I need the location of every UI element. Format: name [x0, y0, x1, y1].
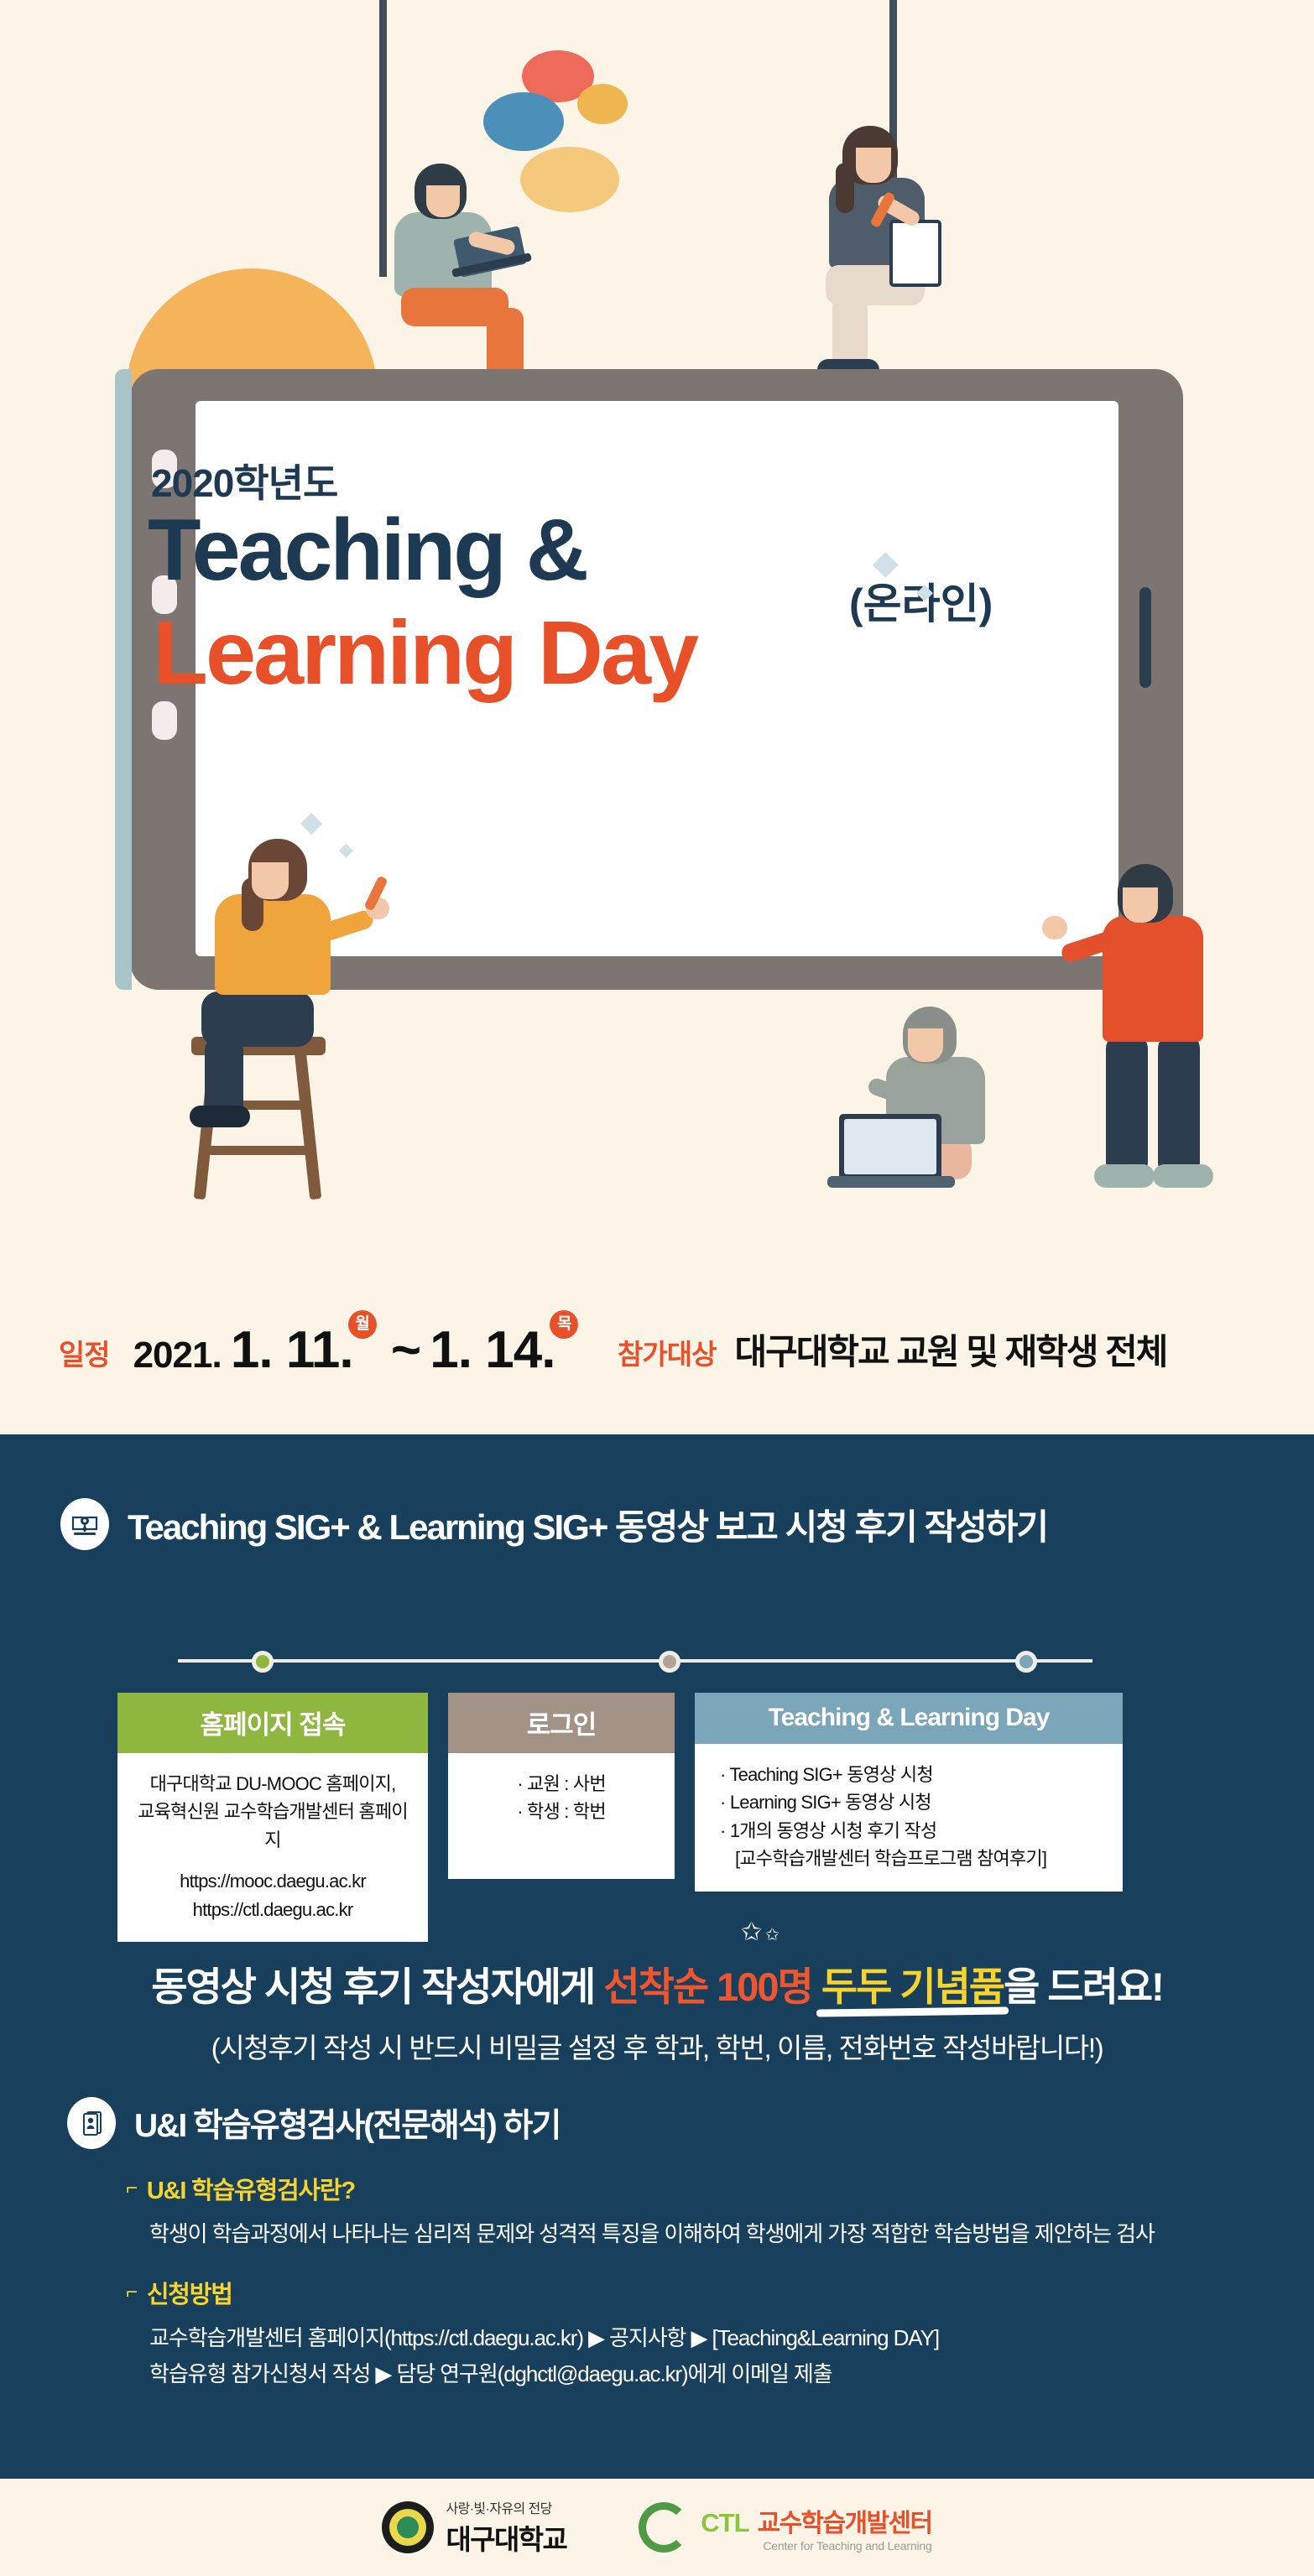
- ui-block-2-heading: 신청방법: [147, 2275, 232, 2310]
- arrow-bullet-icon: ⌐: [126, 2281, 137, 2304]
- daegu-university-logo: 사랑·빛·자유의 전당 대구대학교: [382, 2497, 566, 2558]
- document-card-icon: [67, 2097, 116, 2149]
- ctl-logo: CTL 교수학습개발센터 Center for Teaching and Lea…: [639, 2502, 931, 2553]
- schedule-end-date: 1. 14.: [430, 1321, 555, 1379]
- ctl-url[interactable]: https://ctl.daegu.ac.kr: [133, 1896, 413, 1923]
- target-audience-group: 참가대상 대구대학교 교원 및 재학생 전체: [618, 1324, 1166, 1375]
- step-card-3-title: Teaching & Learning Day: [695, 1693, 1123, 1744]
- poster: 2020학년도 Teaching & (온라인) Learning Day ◆ …: [0, 0, 1314, 2576]
- section-2-title: U&I 학습유형검사(전문해석) 하기: [134, 2100, 560, 2147]
- speech-bubble-blue: [483, 92, 564, 151]
- step-card-3-sub-line: [교수학습개발센터 학습프로그램 참여후기]: [720, 1845, 1108, 1872]
- step-cards: 홈페이지 접속 대구대학교 DU-MOOC 홈페이지, 교육혁신원 교수학습개발…: [117, 1693, 1123, 1942]
- target-audience-label: 참가대상: [618, 1332, 716, 1372]
- step-card-2-title: 로그인: [448, 1693, 675, 1753]
- ui-block-what-is: ⌐ U&I 학습유형검사란? 학생이 학습과정에서 나타나는 심리적 문제와 성…: [126, 2171, 1155, 2252]
- ui-block-1-heading: U&I 학습유형검사란?: [147, 2171, 355, 2206]
- prize-text-mid: [812, 1965, 821, 2009]
- ui-block-1-line-1: 학생이 학습과정에서 나타나는 심리적 문제와 성격적 특징을 이해하여 학생에…: [126, 2216, 1155, 2252]
- prize-line: ✩✩ 동영상 시청 후기 작성자에게 선착순 100명 두두 기념품을 드려요!: [0, 1954, 1314, 2012]
- sparkle-icon: ◆: [873, 544, 899, 582]
- ui-block-2-line-2[interactable]: 학습유형 참가신청서 작성 ▶ 담당 연구원(dghctl@daegu.ac.k…: [126, 2356, 939, 2392]
- hero-illustration: 2020학년도 Teaching & (온라인) Learning Day ◆ …: [0, 0, 1314, 1451]
- hero-title-line2: Learning Day: [153, 604, 696, 702]
- ui-block-2-heading-row: ⌐ 신청방법: [126, 2275, 939, 2310]
- step-card-3-line-1: · Teaching SIG+ 동영상 시청: [720, 1761, 1108, 1788]
- sparkle-icon: ◆: [300, 805, 322, 839]
- step-card-1-urls: https://mooc.daegu.ac.kr https://ctl.dae…: [133, 1867, 413, 1923]
- target-audience-text: 대구대학교 교원 및 재학생 전체: [734, 1324, 1166, 1375]
- step-card-login: 로그인 · 교원 : 사번 · 학생 : 학번: [448, 1693, 675, 1879]
- university-slogan: 사랑·빛·자유의 전당: [446, 2497, 566, 2517]
- device-edge: [115, 369, 132, 990]
- step-card-1-line-2: 교육혁신원 교수학습개발센터 홈페이지: [133, 1798, 413, 1854]
- star-doodle-icon: ✩✩: [741, 1918, 783, 1947]
- person-sitting-with-laptop: [839, 1007, 1074, 1225]
- person-with-laptop: [362, 155, 597, 382]
- prize-text-part1: 동영상 시청 후기 작성자에게: [151, 1965, 603, 2009]
- daegu-university-mark-icon: [382, 2501, 434, 2553]
- step-connector-line: [178, 1659, 1092, 1663]
- schedule-bar: 일정 2021. 1. 11.월 ~ 1. 14.목 참가대상 대구대학교 교원…: [0, 1292, 1314, 1434]
- schedule-label: 일정: [59, 1332, 110, 1380]
- schedule-range-separator: ~: [391, 1321, 420, 1379]
- section-2-header: U&I 학습유형검사(전문해석) 하기: [67, 2097, 560, 2149]
- section-1-header: Teaching SIG+ & Learning SIG+ 동영상 보고 시청 …: [60, 1498, 1047, 1550]
- schedule-start-day-badge: 월: [348, 1310, 377, 1339]
- mooc-url[interactable]: https://mooc.daegu.ac.kr: [133, 1867, 413, 1895]
- prize-highlight-gift: 두두 기념품: [821, 1954, 1004, 2012]
- hero-title-line1: Teaching &: [148, 503, 587, 597]
- step-card-1-line-1: 대구대학교 DU-MOOC 홈페이지,: [133, 1770, 413, 1798]
- schedule-year: 2021.: [133, 1335, 222, 1376]
- university-name: 대구대학교: [446, 2517, 566, 2558]
- ui-block-2-line-1[interactable]: 교수학습개발센터 홈페이지(https://ctl.daegu.ac.kr) ▶…: [126, 2320, 939, 2356]
- step-dot-1: [252, 1651, 274, 1673]
- schedule-date: 2021. 1. 11.월 ~ 1. 14.목: [133, 1320, 584, 1380]
- ctl-abbreviation: CTL: [701, 2508, 748, 2538]
- schedule-start-date: 1. 11.: [231, 1321, 353, 1379]
- person-with-clipboard: [795, 126, 1022, 377]
- ctl-name-korean: 교수학습개발센터: [758, 2502, 932, 2539]
- ctl-name-english: Center for Teaching and Learning: [701, 2539, 931, 2553]
- step-card-3-body: · Teaching SIG+ 동영상 시청 · Learning SIG+ 동…: [695, 1744, 1123, 1892]
- speech-bubble-amber: [577, 84, 628, 124]
- daegu-university-text: 사랑·빛·자유의 전당 대구대학교: [446, 2497, 566, 2558]
- sparkle-icon: ◆: [916, 579, 933, 605]
- footer-logos: 사랑·빛·자유의 전당 대구대학교 CTL 교수학습개발센터 Center fo…: [0, 2479, 1314, 2576]
- step-card-3-line-2: · Learning SIG+ 동영상 시청: [720, 1788, 1108, 1816]
- step-dot-2: [659, 1651, 680, 1673]
- section-1-title: Teaching SIG+ & Learning SIG+ 동영상 보고 시청 …: [128, 1499, 1047, 1550]
- step-card-1-title: 홈페이지 접속: [117, 1693, 428, 1753]
- step-card-2-line-2: · 학생 : 학번: [463, 1798, 660, 1825]
- schedule-end-day-badge: 목: [550, 1310, 578, 1339]
- navy-content-section: Teaching SIG+ & Learning SIG+ 동영상 보고 시청 …: [0, 1434, 1314, 2479]
- hero-year: 2020학년도: [151, 453, 337, 508]
- ctl-circle-icon: [639, 2502, 689, 2553]
- step-card-3-line-3: · 1개의 동영상 시청 후기 작성: [720, 1817, 1108, 1845]
- prize-highlight-count: 선착순 100명: [603, 1965, 811, 2009]
- person-on-stool-writing: [168, 839, 453, 1200]
- device-side-bar: [1139, 587, 1151, 688]
- ui-block-how-to-apply: ⌐ 신청방법 교수학습개발센터 홈페이지(https://ctl.daegu.a…: [126, 2275, 939, 2392]
- prize-note: (시청후기 작성 시 반드시 비밀글 설정 후 학과, 학번, 이름, 전화번호…: [0, 2026, 1314, 2066]
- ui-block-1-heading-row: ⌐ U&I 학습유형검사란?: [126, 2171, 1155, 2206]
- device-button-3: [152, 701, 177, 740]
- ctl-name-row: CTL 교수학습개발센터: [701, 2502, 931, 2539]
- step-card-2-line-1: · 교원 : 사번: [463, 1770, 660, 1798]
- step-card-tlday: Teaching & Learning Day · Teaching SIG+ …: [695, 1693, 1123, 1892]
- ctl-text: CTL 교수학습개발센터 Center for Teaching and Lea…: [701, 2502, 931, 2553]
- prize-announcement: ✩✩ 동영상 시청 후기 작성자에게 선착순 100명 두두 기념품을 드려요!…: [0, 1954, 1314, 2066]
- step-dot-3: [1015, 1651, 1037, 1673]
- arrow-bullet-icon: ⌐: [126, 2177, 137, 2200]
- schedule-group: 일정 2021. 1. 11.월 ~ 1. 14.목: [59, 1320, 583, 1380]
- step-card-2-body: · 교원 : 사번 · 학생 : 학번: [448, 1753, 675, 1879]
- book-pin-icon: [60, 1498, 109, 1550]
- person-standing-pointing: [1066, 864, 1275, 1216]
- step-card-1-body: 대구대학교 DU-MOOC 홈페이지, 교육혁신원 교수학습개발센터 홈페이지 …: [117, 1753, 428, 1942]
- prize-text-part2: 을 드려요!: [1004, 1965, 1163, 2009]
- step-card-homepage: 홈페이지 접속 대구대학교 DU-MOOC 홈페이지, 교육혁신원 교수학습개발…: [117, 1693, 428, 1942]
